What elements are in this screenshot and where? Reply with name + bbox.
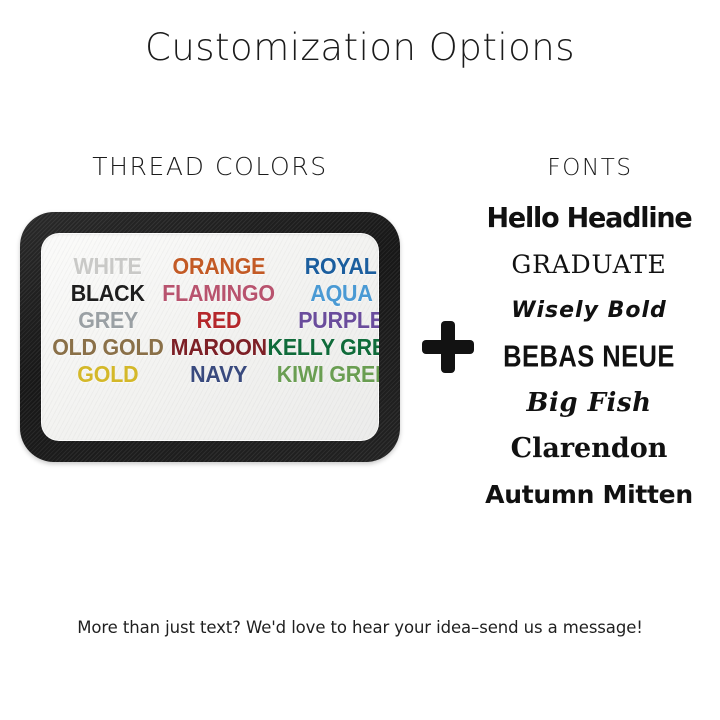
patch-inner-field: WHITE BLACK GREY OLD GOLD GOLD ORANGE FL… [41,233,379,441]
color-column-cools: ROYAL AQUA PURPLE KELLY GREEN KIWI GREEN [275,253,379,387]
color-swatch-royal: ROYAL [305,253,377,279]
fonts-heading: FONTS [470,155,710,181]
page-title: Customization Options [0,26,720,69]
font-sample-big-fish: Big Fish [460,380,718,426]
footer-note: More than just text? We'd love to hear y… [0,618,720,637]
font-sample-bebas-neue: BEBAS NEUE [475,333,702,382]
font-sample-graduate: GRADUATE [460,242,718,288]
color-swatch-kiwi-green: KIWI GREEN [277,361,379,387]
thread-color-patch: WHITE BLACK GREY OLD GOLD GOLD ORANGE FL… [20,212,400,462]
font-sample-clarendon: Clarendon [460,426,718,472]
color-swatch-kelly-green: KELLY GREEN [267,334,379,360]
color-column-neutrals: WHITE BLACK GREY OLD GOLD GOLD [53,253,163,387]
font-sample-hello-headline: Hello Headline [460,196,718,243]
color-swatch-red: RED [197,307,242,333]
thread-colors-heading: THREAD COLORS [20,152,400,181]
color-swatch-black: BLACK [71,280,145,306]
font-sample-wisely-bold: Wisely Bold [460,288,718,334]
color-swatch-old-gold: OLD GOLD [52,334,163,360]
font-sample-list: Hello Headline GRADUATE Wisely Bold BEBA… [460,196,718,518]
color-swatch-flamingo: FLAMINGO [163,280,276,306]
color-swatch-navy: NAVY [190,361,247,387]
color-swatch-purple: PURPLE [298,307,379,333]
plus-icon-vertical-bar [441,321,455,373]
color-swatch-aqua: AQUA [310,280,372,306]
font-sample-autumn-mitten: Autumn Mitten [460,472,718,518]
color-swatch-white: WHITE [74,253,142,279]
color-swatch-grey: GREY [78,307,138,333]
color-column-warms: ORANGE FLAMINGO RED MAROON NAVY [163,253,275,387]
color-swatch-orange: ORANGE [173,253,266,279]
color-swatch-gold: GOLD [77,361,138,387]
color-swatch-maroon: MAROON [171,334,267,360]
color-swatch-columns: WHITE BLACK GREY OLD GOLD GOLD ORANGE FL… [41,253,379,387]
